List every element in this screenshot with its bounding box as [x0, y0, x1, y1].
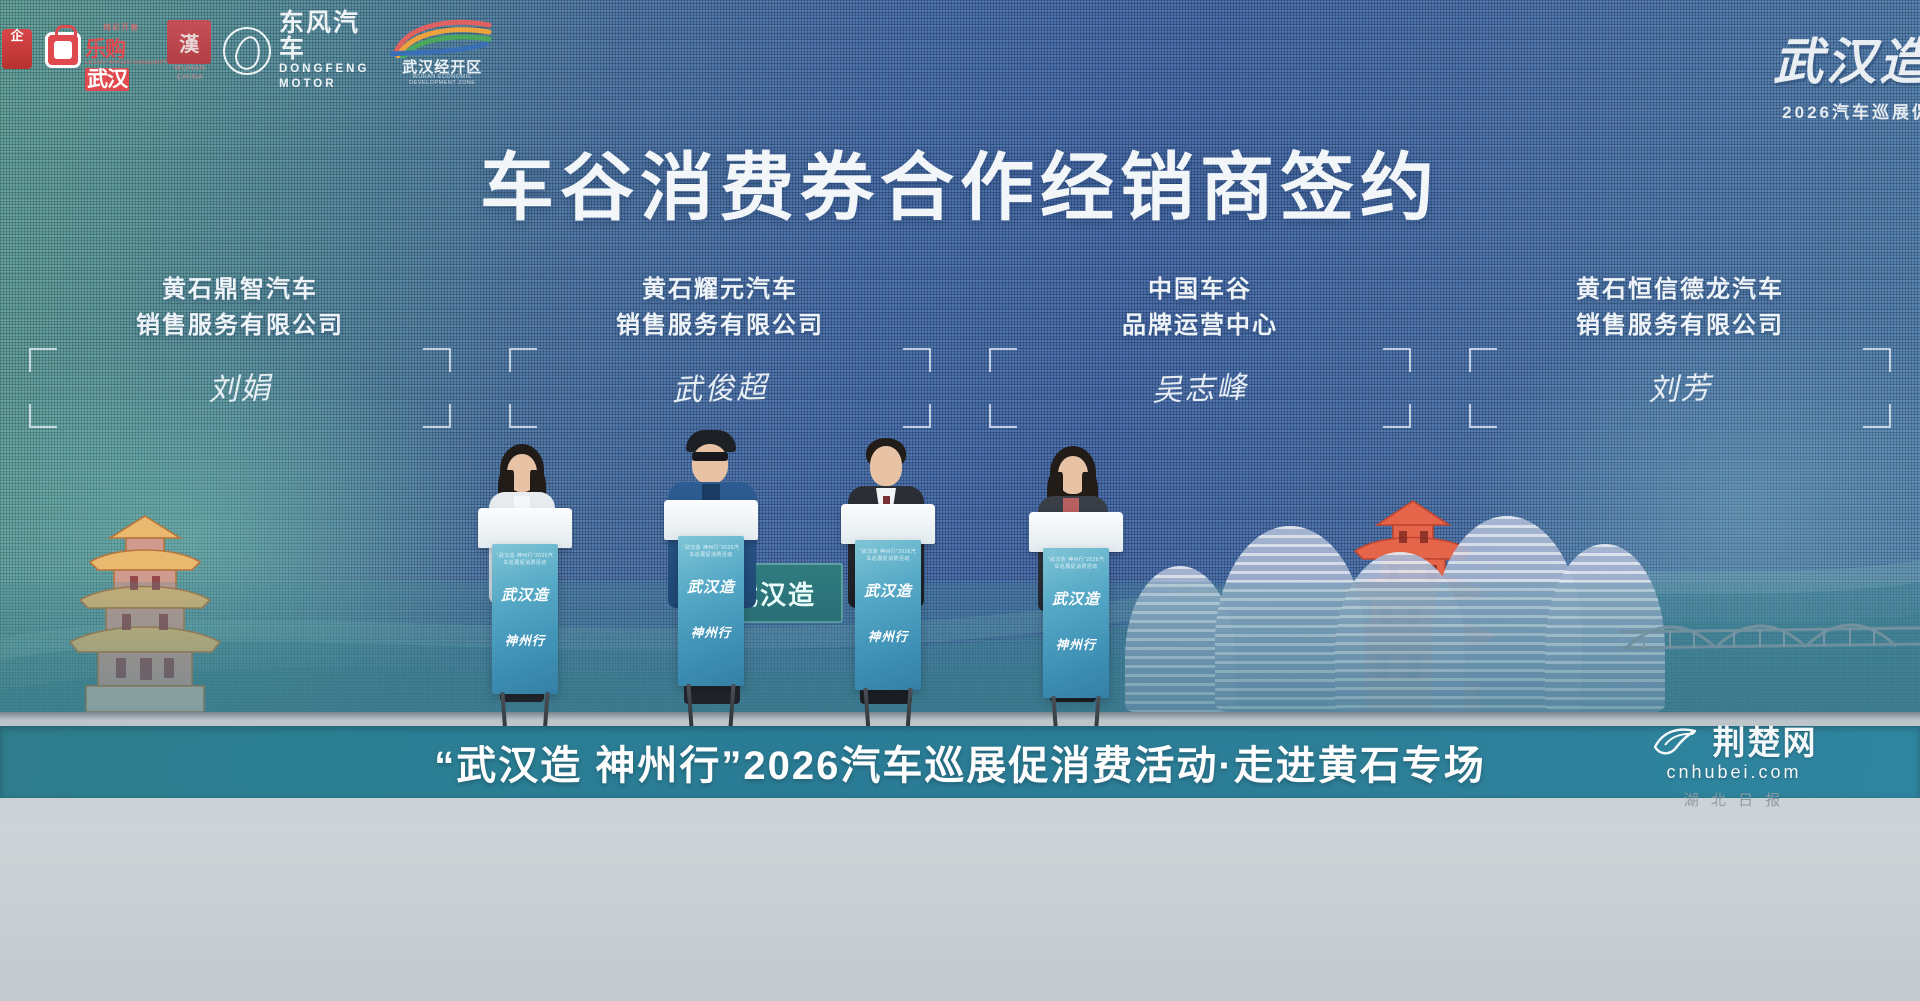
- watermark-cn: 荆楚网: [1713, 716, 1818, 764]
- podium-1-body: “武汉造 神州行”2026汽车巡展促消费活动 武汉造 神州行: [492, 544, 558, 694]
- podium-3-body: “武汉造 神州行”2026汽车巡展促消费活动 武汉造 神州行: [855, 540, 921, 690]
- podium-3-tiny-text: “武汉造 神州行”2026汽车巡展促消费活动: [859, 548, 917, 562]
- wuhan-seal-glyph: 漢: [167, 20, 211, 64]
- podium-4-line2: 神州行: [1043, 634, 1109, 653]
- event-logo-cn: 武汉造: [1632, 22, 1920, 94]
- screenshot-root: 企 精彩开春 乐购武汉 LEGOU WUHAN CONSUMPTION SEAS…: [0, 0, 1920, 1001]
- lego-block-logo: 企: [0, 23, 29, 79]
- podium-1-tiny-text: “武汉造 神州行”2026汽车巡展促消费活动: [496, 552, 554, 566]
- event-logo-sub: 2026汽车巡展促: [1632, 98, 1920, 123]
- podium-3-line1: 武汉造: [855, 582, 921, 600]
- wuhan-seal-en-line2: CHINA: [177, 74, 204, 81]
- podium-3-line2: 神州行: [855, 626, 921, 645]
- company-name-4-line2: 销售服务有限公司: [1576, 312, 1784, 339]
- wuhan-seal-en: WUHAN CHINA: [155, 64, 225, 82]
- person-2-head: [692, 444, 728, 484]
- person-2-sunglasses: [692, 452, 728, 461]
- backdrop-scenery: 武汉造: [0, 455, 1920, 712]
- company-name-2: 黄石耀元汽车 销售服务有限公司: [480, 272, 960, 344]
- podium-2-body: “武汉造 神州行”2026汽车巡展促消费活动 武汉造 神州行: [678, 536, 744, 686]
- dongfeng-motor-logo: 东风汽车 DONGFENG MOTOR: [223, 23, 376, 79]
- dongfeng-emblem-icon: [223, 27, 271, 75]
- podium-1-line2: 神州行: [492, 630, 558, 649]
- watermark-en: cnhubei.com: [1584, 762, 1884, 783]
- wedz-en-text: WUHAN ECONOMIC DEVELOPMENT ZONE: [390, 74, 494, 86]
- company-name-1: 黄石鼎智汽车 销售服务有限公司: [0, 272, 480, 344]
- podium-4-body: “武汉造 神州行”2026汽车巡展促消费活动 武汉造 神州行: [1043, 548, 1109, 698]
- headline-title: 车谷消费券合作经销商签约: [0, 128, 1920, 235]
- sponsor-logo-strip: 企 精彩开春 乐购武汉 LEGOU WUHAN CONSUMPTION SEAS…: [0, 14, 470, 88]
- signing-panel-2: 黄石耀元汽车 销售服务有限公司 武俊超: [480, 252, 960, 442]
- legou-tagline: 精彩开春: [103, 22, 139, 33]
- wuhan-economic-development-zone-logo: 武汉经开区 WUHAN ECONOMIC DEVELOPMENT ZONE: [390, 18, 470, 84]
- company-name-2-line1: 黄石耀元汽车: [642, 276, 798, 303]
- person-3-head: [870, 446, 902, 486]
- signing-panel-1: 黄石鼎智汽车 销售服务有限公司 刘娟: [0, 252, 480, 442]
- watermark: 荆楚网 cnhubei.com 湖 北 日 报: [1584, 716, 1884, 810]
- company-name-4-line1: 黄石恒信德龙汽车: [1576, 276, 1784, 303]
- company-name-4: 黄石恒信德龙汽车 销售服务有限公司: [1440, 272, 1920, 344]
- company-name-2-line2: 销售服务有限公司: [616, 312, 824, 339]
- podium-2-line2: 神州行: [678, 622, 744, 641]
- podium-1-line1: 武汉造: [492, 586, 558, 604]
- legou-wuhan-logo: 精彩开春 乐购武汉 LEGOU WUHAN CONSUMPTION SEASON: [43, 24, 141, 78]
- company-name-3-line1: 中国车谷: [1148, 276, 1252, 303]
- legou-cn-highlight: 武汉: [85, 68, 129, 91]
- shopping-bag-icon: [45, 32, 81, 68]
- signing-panel-4: 黄石恒信德龙汽车 销售服务有限公司 刘芳: [1440, 252, 1920, 442]
- company-name-3: 中国车谷 品牌运营中心: [960, 272, 1440, 344]
- podium-3-top: [841, 504, 935, 544]
- signing-panel-3: 中国车谷 品牌运营中心 吴志峰: [960, 252, 1440, 442]
- rainbow-arc-icon: [390, 18, 494, 58]
- company-name-1-line1: 黄石鼎智汽车: [162, 276, 318, 303]
- podium-4-tiny-text: “武汉造 神州行”2026汽车巡展促消费活动: [1047, 556, 1105, 570]
- wuhan-seal-en-line1: WUHAN: [175, 65, 206, 72]
- podium-2-tiny-text: “武汉造 神州行”2026汽车巡展促消费活动: [682, 544, 740, 558]
- dongfeng-en-text: DONGFENG MOTOR: [279, 62, 376, 92]
- podium-2-legs: [684, 684, 738, 728]
- wuhan-china-seal-logo: 漢 WUHAN CHINA: [155, 18, 209, 84]
- event-logo-right: 武汉造 2026汽车巡展促: [1632, 22, 1920, 123]
- podium-4-line1: 武汉造: [1043, 590, 1109, 608]
- lego-block-logo-text: 企: [0, 29, 34, 43]
- podium-4-top: [1029, 512, 1123, 552]
- water-band: [0, 582, 1920, 712]
- signing-panels: 黄石鼎智汽车 销售服务有限公司 刘娟 黄石耀元汽车 销售服务有限公司 武俊超 中…: [0, 252, 1920, 442]
- podium-2-top: [664, 500, 758, 540]
- dongfeng-cn-text: 东风汽车: [279, 10, 376, 62]
- crane-bird-icon: [1651, 721, 1703, 759]
- company-name-1-line2: 销售服务有限公司: [136, 312, 344, 339]
- watermark-sub: 湖 北 日 报: [1584, 789, 1884, 810]
- podium-2-line1: 武汉造: [678, 578, 744, 596]
- legou-cn: 乐购: [85, 38, 125, 61]
- company-name-3-line2: 品牌运营中心: [1122, 312, 1278, 339]
- podium-1-top: [478, 508, 572, 548]
